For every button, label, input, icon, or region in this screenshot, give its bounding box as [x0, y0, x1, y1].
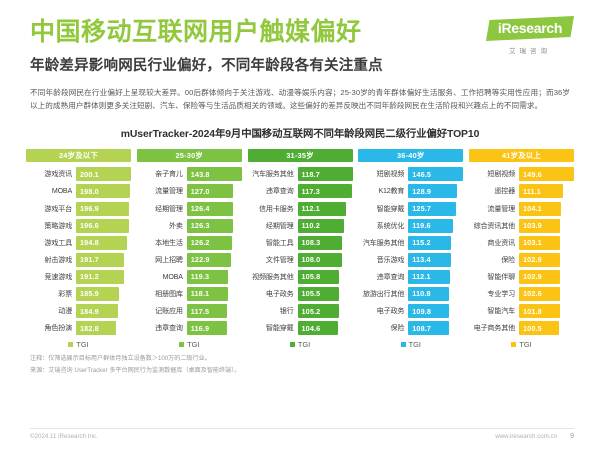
- bar-value: 191.2: [76, 270, 124, 284]
- chart-row: 本地生活126.2: [137, 236, 242, 250]
- bar-value: 112.1: [408, 270, 450, 284]
- bar-value: 185.9: [76, 287, 119, 301]
- bar-value: 198.0: [76, 184, 130, 198]
- bar-category-label: 游戏平台: [26, 204, 76, 214]
- bar-category-label: 策略游戏: [26, 221, 76, 231]
- iresearch-logo: iResearch 艾瑞咨询: [486, 16, 574, 55]
- chart-title: mUserTracker-2024年9月中国移动互联网不同年龄段网民二级行业偏好…: [0, 125, 600, 140]
- bar-category-label: 信用卡服务: [248, 204, 298, 214]
- bar-category-label: 商业资讯: [469, 238, 519, 248]
- chart-row: 彩票185.9: [26, 287, 131, 301]
- bar-category-label: 系统优化: [358, 221, 408, 231]
- bar-category-label: 游戏资讯: [26, 169, 76, 179]
- bar-category-label: 流量管理: [469, 204, 519, 214]
- chart-row: 保险102.9: [469, 253, 574, 267]
- chart-legend-3: TGI: [248, 340, 353, 349]
- chart-column-4: 36-40岁短剧视频146.5K12教育128.9智能穿戴125.7系统优化11…: [358, 149, 463, 349]
- chart-row: 综合资讯其他103.9: [469, 219, 574, 233]
- bar-value: 117.5: [187, 304, 228, 318]
- chart-legend-5: TGI: [469, 340, 574, 349]
- chart-row: 汽车服务其他118.7: [248, 167, 353, 181]
- bar-category-label: K12教育: [358, 186, 408, 196]
- bar-value: 104.6: [298, 321, 338, 335]
- bar-category-label: 专业学习: [469, 289, 519, 299]
- bar-value: 105.2: [298, 304, 339, 318]
- chart-row: 游戏资讯200.1: [26, 167, 131, 181]
- chart-row: 电子政务105.5: [248, 287, 353, 301]
- bar-category-label: 智能伴聊: [469, 272, 519, 282]
- chart-row: 外卖126.3: [137, 219, 242, 233]
- legend-label: TGI: [519, 340, 531, 349]
- slide-page: iResearch 艾瑞咨询 中国移动互联网用户触媒偏好 年龄差异影响网民行业偏…: [0, 0, 600, 449]
- legend-label: TGI: [409, 340, 421, 349]
- chart-row: 智能工具108.3: [248, 236, 353, 250]
- bar-category-label: 汽车服务其他: [248, 169, 298, 179]
- bar-category-label: 角色扮演: [26, 323, 76, 333]
- chart-row: 专业学习102.6: [469, 287, 574, 301]
- bar-category-label: 经期管理: [248, 221, 298, 231]
- bar-category-label: 综合资讯其他: [469, 221, 519, 231]
- bar-value: 111.1: [519, 184, 563, 198]
- chart-row: 游戏工具194.8: [26, 236, 131, 250]
- bar-value: 103.1: [519, 236, 560, 250]
- legend-label: TGI: [76, 340, 88, 349]
- bar-value: 116.9: [187, 321, 227, 335]
- chart-row: 智能伴聊102.9: [469, 270, 574, 284]
- bar-category-label: 网上招聘: [137, 255, 187, 265]
- bar-category-label: 电子商务其他: [469, 323, 519, 333]
- bar-category-label: 记账应用: [137, 306, 187, 316]
- bar-category-label: 亲子育儿: [137, 169, 187, 179]
- bar-category-label: 彩票: [26, 289, 76, 299]
- bar-value: 128.9: [408, 184, 457, 198]
- bar-category-label: 电子政务: [248, 289, 298, 299]
- legend-swatch-icon: [511, 342, 516, 347]
- bar-value: 102.9: [519, 270, 560, 284]
- bar-value: 119.3: [187, 270, 229, 284]
- bar-value: 110.2: [298, 219, 345, 233]
- legend-swatch-icon: [401, 342, 406, 347]
- bar-value: 196.6: [76, 219, 129, 233]
- bar-category-label: 游戏工具: [26, 238, 76, 248]
- chart-row: 遥控器111.1: [469, 184, 574, 198]
- chart-row: 电子政务109.8: [358, 304, 463, 318]
- bar-value: 102.6: [519, 287, 560, 301]
- bar-category-label: 相册图库: [137, 289, 187, 299]
- chart-row: 经期管理110.2: [248, 219, 353, 233]
- bar-value: 115.2: [408, 236, 451, 250]
- chart-row: 智能汽车101.8: [469, 304, 574, 318]
- chart-row: 系统优化119.6: [358, 219, 463, 233]
- bar-value: 103.9: [519, 219, 560, 233]
- bar-value: 196.9: [76, 202, 129, 216]
- chart-row: 音乐游戏113.4: [358, 253, 463, 267]
- logo-name: Research: [501, 20, 562, 36]
- chart-row: 智能穿戴104.6: [248, 321, 353, 335]
- bar-value: 108.7: [408, 321, 448, 335]
- chart-row: 角色扮演182.8: [26, 321, 131, 335]
- bar-category-label: 短剧视频: [358, 169, 408, 179]
- chart-row: MOBA119.3: [137, 270, 242, 284]
- legend-swatch-icon: [68, 342, 73, 347]
- chart-row: 保险108.7: [358, 321, 463, 335]
- bar-category-label: 违章查询: [248, 186, 298, 196]
- bar-category-label: 智能穿戴: [248, 323, 298, 333]
- chart-columns: 24岁及以下游戏资讯200.1MOBA198.0游戏平台196.9策略游戏196…: [0, 140, 600, 349]
- bar-value: 118.1: [187, 287, 228, 301]
- page-number: 9: [570, 433, 574, 440]
- bar-category-label: 经期管理: [137, 204, 187, 214]
- bar-category-label: 本地生活: [137, 238, 187, 248]
- chart-row: 违章查询116.9: [137, 321, 242, 335]
- bar-category-label: 文件管理: [248, 255, 298, 265]
- legend-swatch-icon: [290, 342, 295, 347]
- bar-value: 182.8: [76, 321, 116, 335]
- chart-row: 商业资讯103.1: [469, 236, 574, 250]
- bar-value: 126.2: [187, 236, 233, 250]
- chart-row: 策略游戏196.6: [26, 219, 131, 233]
- bar-value: 117.3: [298, 184, 352, 198]
- footer-right: www.iresearch.com.cn 9: [495, 433, 574, 440]
- chart-column-5: 41岁及以上短剧视频149.6遥控器111.1流量管理104.1综合资讯其他10…: [469, 149, 574, 349]
- bar-category-label: 动漫: [26, 306, 76, 316]
- note-line-1: 注释：仅筛选展示目标用户群体月独立设备数＞100万的二级行业。: [30, 353, 570, 364]
- bar-value: 122.9: [187, 253, 231, 267]
- legend-label: TGI: [298, 340, 310, 349]
- bar-value: 109.8: [408, 304, 449, 318]
- chart-legend-4: TGI: [358, 340, 463, 349]
- note-line-2: 来源：艾瑞咨询 UserTracker 多平台网民行为监测数据库（桌面及智能终端…: [30, 365, 570, 376]
- chart-row: 信用卡服务112.1: [248, 202, 353, 216]
- chart-row: 网上招聘122.9: [137, 253, 242, 267]
- column-header-5: 41岁及以上: [469, 149, 574, 162]
- logo-chinese-name: 艾瑞咨询: [486, 45, 574, 55]
- chart-row: 电子商务其他100.5: [469, 321, 574, 335]
- bar-value: 127.0: [187, 184, 233, 198]
- bar-value: 126.4: [187, 202, 233, 216]
- chart-row: 智能穿戴125.7: [358, 202, 463, 216]
- bar-value: 105.8: [298, 270, 340, 284]
- bar-category-label: 流量管理: [137, 186, 187, 196]
- chart-row: 动漫184.9: [26, 304, 131, 318]
- chart-row: 违章查询112.1: [358, 270, 463, 284]
- column-header-2: 25-30岁: [137, 149, 242, 162]
- bar-category-label: 汽车服务其他: [358, 238, 408, 248]
- bar-value: 143.8: [187, 167, 242, 181]
- chart-row: 银行105.2: [248, 304, 353, 318]
- bar-category-label: 智能汽车: [469, 306, 519, 316]
- chart-notes: 注释：仅筛选展示目标用户群体月独立设备数＞100万的二级行业。 来源：艾瑞咨询 …: [0, 349, 600, 376]
- bar-category-label: 违章查询: [137, 323, 187, 333]
- bar-category-label: MOBA: [26, 187, 76, 195]
- chart-row: 经期管理126.4: [137, 202, 242, 216]
- chart-row: MOBA198.0: [26, 184, 131, 198]
- bar-category-label: 电子政务: [358, 306, 408, 316]
- bar-category-label: 旅游出行其他: [358, 289, 408, 299]
- bar-value: 194.8: [76, 236, 127, 250]
- legend-swatch-icon: [179, 342, 184, 347]
- bar-value: 184.9: [76, 304, 118, 318]
- website-link[interactable]: www.iresearch.com.cn: [495, 433, 557, 440]
- bar-value: 146.5: [408, 167, 463, 181]
- chart-row: 流量管理127.0: [137, 184, 242, 198]
- chart-row: 违章查询117.3: [248, 184, 353, 198]
- logo-wordmark: iResearch: [486, 16, 574, 41]
- bar-value: 113.4: [408, 253, 450, 267]
- bar-value: 126.3: [187, 219, 233, 233]
- bar-category-label: 视频服务其他: [248, 272, 298, 282]
- chart-row: 竞速游戏191.2: [26, 270, 131, 284]
- chart-row: 短剧视频149.6: [469, 167, 574, 181]
- chart-row: 旅游出行其他110.8: [358, 287, 463, 301]
- bar-value: 102.9: [519, 253, 560, 267]
- bar-category-label: 音乐游戏: [358, 255, 408, 265]
- column-header-1: 24岁及以下: [26, 149, 131, 162]
- chart-row: 射击游戏191.7: [26, 253, 131, 267]
- bar-category-label: 保险: [358, 323, 408, 333]
- chart-row: 视频服务其他105.8: [248, 270, 353, 284]
- chart-row: 短剧视频146.5: [358, 167, 463, 181]
- bar-category-label: MOBA: [137, 273, 187, 281]
- bar-category-label: 竞速游戏: [26, 272, 76, 282]
- bar-category-label: 外卖: [137, 221, 187, 231]
- bar-value: 119.6: [408, 219, 453, 233]
- chart-legend-1: TGI: [26, 340, 131, 349]
- bar-value: 110.8: [408, 287, 449, 301]
- chart-row: 文件管理108.0: [248, 253, 353, 267]
- column-header-4: 36-40岁: [358, 149, 463, 162]
- bar-value: 125.7: [408, 202, 455, 216]
- chart-row: 亲子育儿143.8: [137, 167, 242, 181]
- chart-column-3: 31-35岁汽车服务其他118.7违章查询117.3信用卡服务112.1经期管理…: [248, 149, 353, 349]
- bar-category-label: 遥控器: [469, 186, 519, 196]
- slide-header: iResearch 艾瑞咨询 中国移动互联网用户触媒偏好 年龄差异影响网民行业偏…: [0, 0, 600, 112]
- bar-category-label: 银行: [248, 306, 298, 316]
- bar-value: 104.1: [519, 202, 561, 216]
- bar-value: 105.5: [298, 287, 339, 301]
- chart-row: 流量管理104.1: [469, 202, 574, 216]
- bar-category-label: 保险: [469, 255, 519, 265]
- chart-row: 相册图库118.1: [137, 287, 242, 301]
- page-subtitle: 年龄差异影响网民行业偏好，不同年龄段各有关注重点: [30, 54, 570, 75]
- chart-row: K12教育128.9: [358, 184, 463, 198]
- bar-value: 118.7: [298, 167, 353, 181]
- bar-value: 112.1: [298, 202, 347, 216]
- bar-category-label: 智能工具: [248, 238, 298, 248]
- chart-row: 记账应用117.5: [137, 304, 242, 318]
- chart-column-1: 24岁及以下游戏资讯200.1MOBA198.0游戏平台196.9策略游戏196…: [26, 149, 131, 349]
- chart-row: 游戏平台196.9: [26, 202, 131, 216]
- bar-value: 191.7: [76, 253, 124, 267]
- bar-category-label: 违章查询: [358, 272, 408, 282]
- bar-value: 100.5: [519, 321, 559, 335]
- bar-category-label: 射击游戏: [26, 255, 76, 265]
- bar-category-label: 智能穿戴: [358, 204, 408, 214]
- bar-value: 200.1: [76, 167, 131, 181]
- bar-value: 108.3: [298, 236, 342, 250]
- column-header-3: 31-35岁: [248, 149, 353, 162]
- chart-row: 汽车服务其他115.2: [358, 236, 463, 250]
- copyright-text: ©2024.11 iResearch Inc.: [30, 433, 98, 440]
- logo-mark: iResearch: [486, 16, 574, 42]
- chart-column-2: 25-30岁亲子育儿143.8流量管理127.0经期管理126.4外卖126.3…: [137, 149, 242, 349]
- bar-value: 101.8: [519, 304, 560, 318]
- bar-category-label: 短剧视频: [469, 169, 519, 179]
- legend-label: TGI: [187, 340, 199, 349]
- chart-legend-2: TGI: [137, 340, 242, 349]
- intro-paragraph: 不同年龄段网民在行业偏好上呈现较大差异。00后群体倾向于关注游戏、动漫等娱乐内容…: [30, 86, 570, 113]
- bar-value: 108.0: [298, 253, 342, 267]
- slide-footer: ©2024.11 iResearch Inc. www.iresearch.co…: [30, 428, 574, 440]
- bar-value: 149.6: [519, 167, 574, 181]
